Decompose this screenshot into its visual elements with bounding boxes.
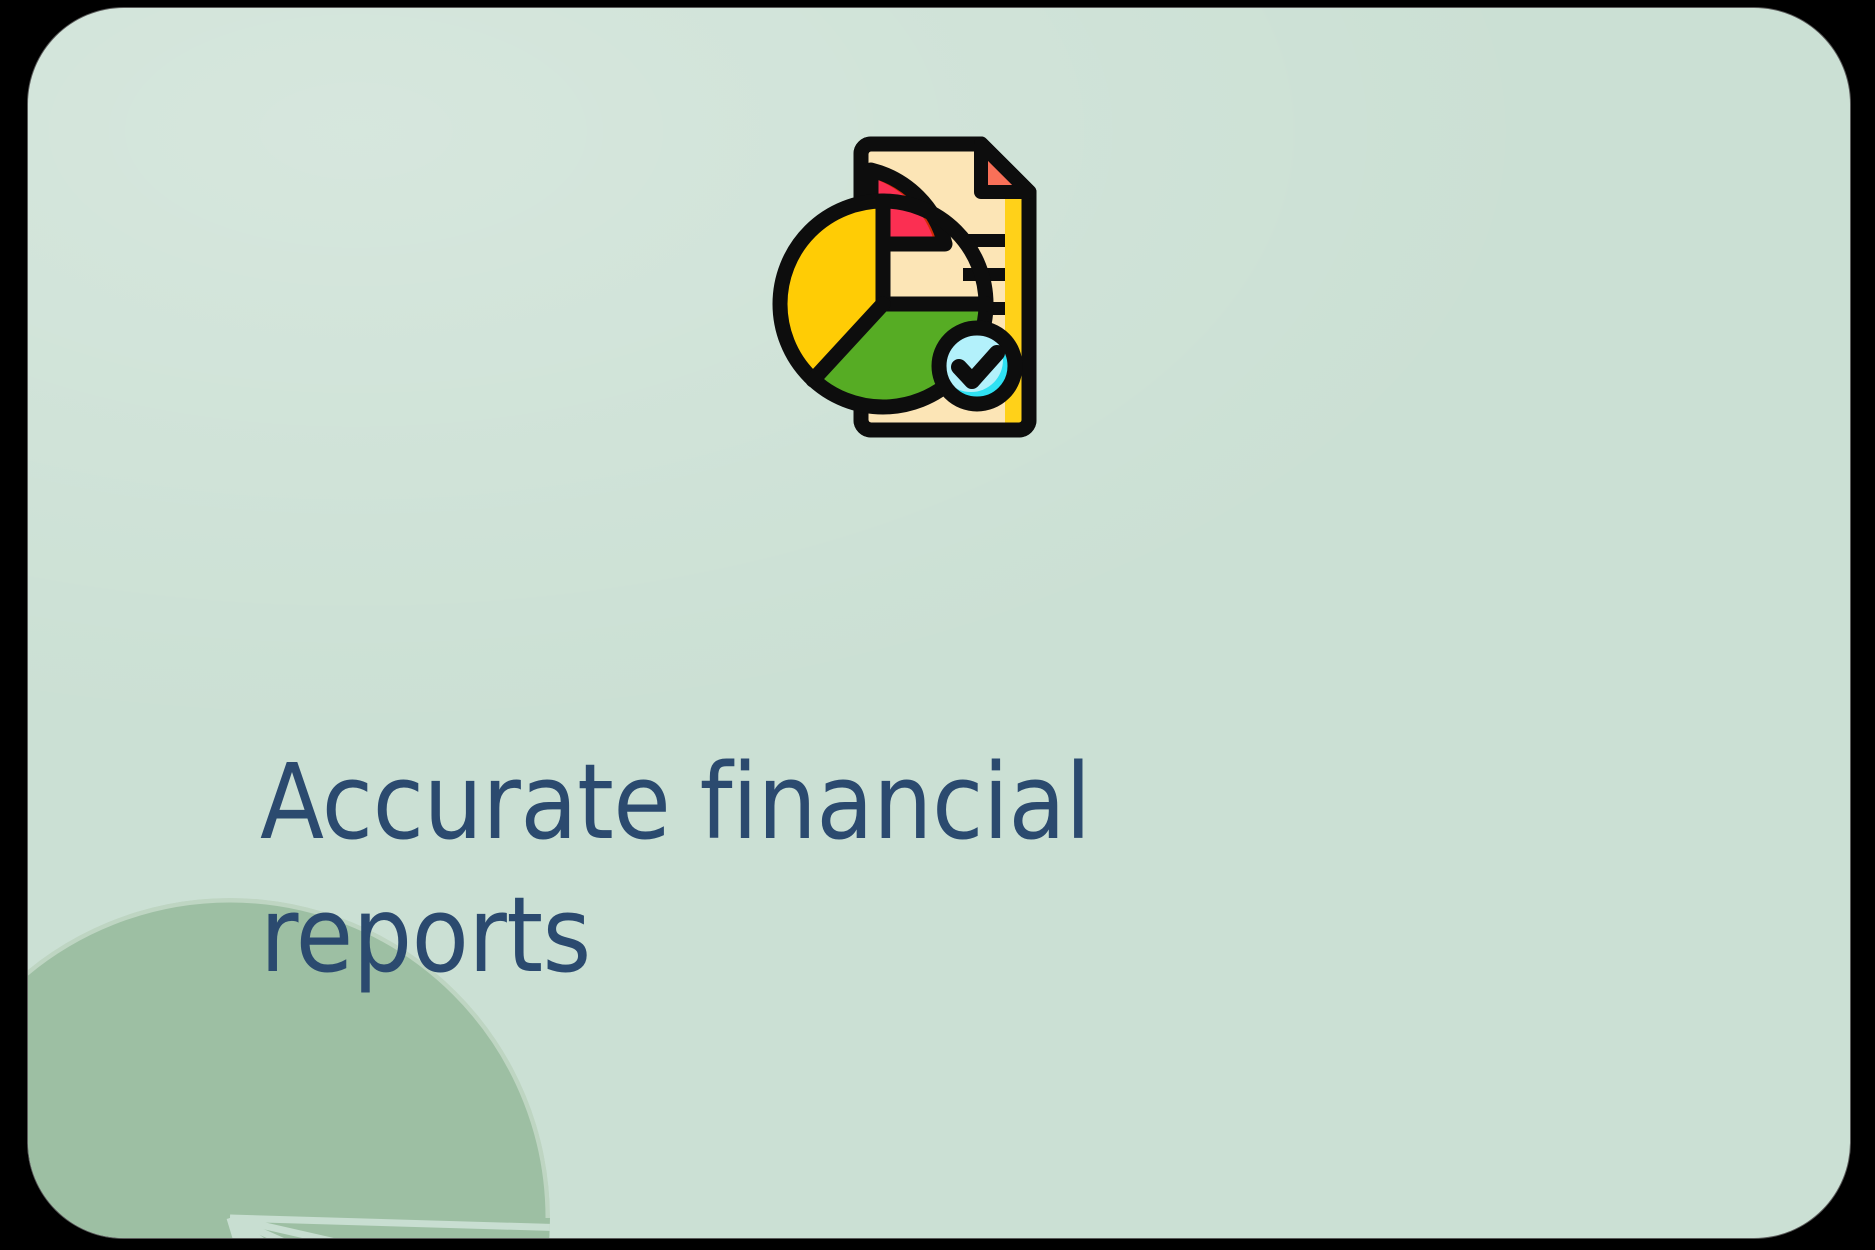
feature-card[interactable]: Accurate financial reports [28, 8, 1850, 1238]
financial-report-pie-chart-document-icon [759, 126, 1119, 486]
screenshot-root: Accurate financial reports [0, 0, 1875, 1250]
verified-check-badge [939, 328, 1015, 404]
document-fold-corner [981, 144, 1029, 192]
icon-container [28, 126, 1850, 486]
card-headline: Accurate financial reports [260, 736, 1360, 1002]
